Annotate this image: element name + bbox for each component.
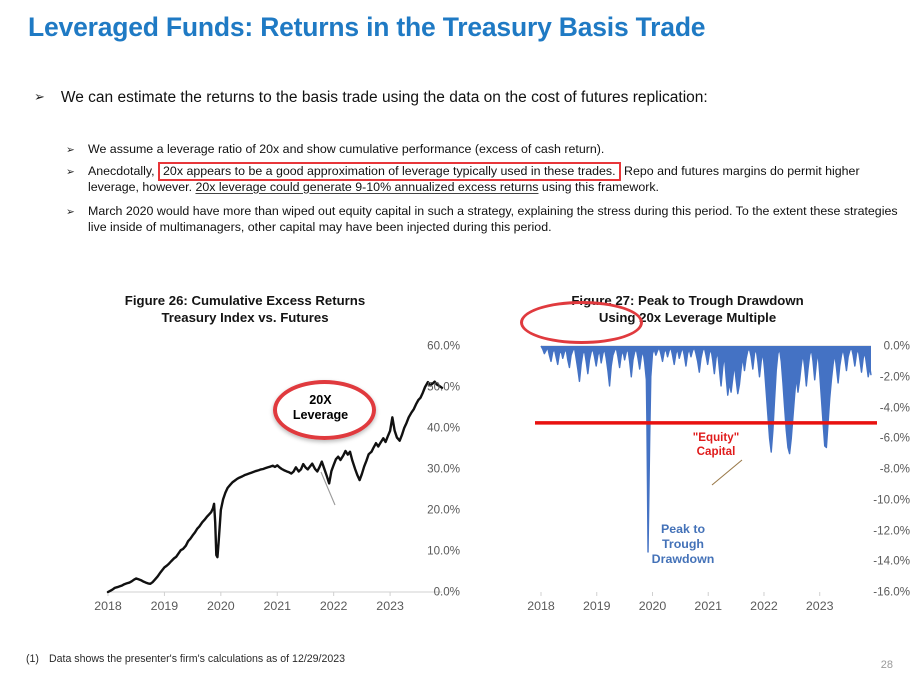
text-run: Anecdotally, (88, 164, 158, 178)
x-axis-tick-label: 2020 (207, 599, 235, 613)
x-axis-tick-label: 2022 (750, 599, 778, 613)
footnote-number: (1) (26, 653, 39, 665)
x-axis-tick-label: 2023 (376, 599, 404, 613)
bullet-arrow-icon: ➢ (66, 142, 76, 158)
y-axis-tick-label: 30.0% (388, 463, 460, 476)
underlined-phrase: 20x leverage could generate 9-10% annual… (195, 180, 538, 194)
figure-27-title: Figure 27: Peak to Trough Drawdown Using… (465, 292, 910, 326)
leverage-callout-label: 20X Leverage (273, 393, 368, 423)
peak-to-trough-line1: Peak to (625, 522, 741, 537)
x-axis-tick-label: 2023 (806, 599, 834, 613)
figure-27: Figure 27: Peak to Trough Drawdown Using… (465, 292, 910, 617)
peak-to-trough-line2: Trough (625, 537, 741, 552)
text-run: March 2020 would have more than wiped ou… (88, 204, 898, 234)
figure-27-title-line2: Using 20x Leverage Multiple (465, 309, 910, 326)
bullet-level1: ➢ We can estimate the returns to the bas… (34, 88, 894, 107)
bullet-level2-item: ➢ March 2020 would have more than wiped … (66, 204, 906, 235)
y-axis-tick-label: 40.0% (388, 422, 460, 435)
peak-to-trough-line3: Drawdown (625, 552, 741, 567)
highlighted-phrase: 20x appears to be a good approximation o… (158, 162, 621, 181)
y-axis-tick-label: 0.0% (840, 340, 910, 353)
leverage-callout-line1: 20X (273, 393, 368, 408)
x-axis-tick-label: 2019 (151, 599, 179, 613)
x-axis-tick-label: 2020 (639, 599, 667, 613)
y-axis-tick-label: -8.0% (840, 463, 910, 476)
y-axis-tick-label: -10.0% (840, 493, 910, 506)
figure-26-title: Figure 26: Cumulative Excess Returns Tre… (30, 292, 460, 326)
leverage-callout-line2: Leverage (273, 408, 368, 423)
footnote-text: Data shows the presenter's firm's calcul… (49, 653, 345, 665)
x-axis-tick-label: 2022 (320, 599, 348, 613)
equity-capital-line2: Capital (671, 445, 761, 459)
bullet-arrow-icon: ➢ (34, 88, 45, 106)
bullet-arrow-icon: ➢ (66, 164, 76, 180)
figure-26: Figure 26: Cumulative Excess Returns Tre… (30, 292, 460, 617)
y-axis-tick-label: 50.0% (388, 381, 460, 394)
page-number: 28 (881, 659, 893, 671)
x-axis-tick-label: 2018 (527, 599, 555, 613)
bullet-level2-text: We assume a leverage ratio of 20x and sh… (88, 142, 604, 158)
x-axis-tick-label: 2019 (583, 599, 611, 613)
bullet-arrow-icon: ➢ (66, 204, 76, 220)
footnote: (1)Data shows the presenter's firm's cal… (26, 653, 345, 665)
figure-27-title-line1: Figure 27: Peak to Trough Drawdown (465, 292, 910, 309)
page-title: Leveraged Funds: Returns in the Treasury… (28, 12, 705, 43)
bullet-level2-text: Anecdotally, 20x appears to be a good ap… (88, 164, 906, 195)
text-run: using this framework. (538, 180, 659, 194)
x-axis-tick-label: 2021 (263, 599, 291, 613)
y-axis-tick-label: -2.0% (840, 370, 910, 383)
figure-26-title-line1: Figure 26: Cumulative Excess Returns (30, 292, 460, 309)
x-axis-tick-label: 2018 (94, 599, 122, 613)
text-run: We assume a leverage ratio of 20x and sh… (88, 142, 604, 156)
y-axis-tick-label: -12.0% (840, 524, 910, 537)
bullet-level2-item: ➢ Anecdotally, 20x appears to be a good … (66, 164, 906, 195)
bullet-level1-text: We can estimate the returns to the basis… (61, 88, 708, 107)
y-axis-tick-label: 20.0% (388, 504, 460, 517)
y-axis-tick-label: -14.0% (840, 555, 910, 568)
equity-capital-line1: "Equity" (671, 431, 761, 445)
y-axis-tick-label: 60.0% (388, 340, 460, 353)
bullet-level2-list: ➢ We assume a leverage ratio of 20x and … (66, 142, 906, 241)
figure-27-plot: 0.0%-2.0%-4.0%-6.0%-8.0%-10.0%-12.0%-14.… (465, 334, 910, 614)
peak-to-trough-label: Peak to Trough Drawdown (625, 522, 741, 567)
y-axis-tick-label: -6.0% (840, 432, 910, 445)
slide-canvas: Leveraged Funds: Returns in the Treasury… (0, 0, 921, 686)
y-axis-tick-label: 10.0% (388, 545, 460, 558)
bullet-level2-item: ➢ We assume a leverage ratio of 20x and … (66, 142, 906, 158)
bullet-level2-text: March 2020 would have more than wiped ou… (88, 204, 906, 235)
equity-capital-label: "Equity" Capital (671, 431, 761, 459)
figure-26-title-line2: Treasury Index vs. Futures (30, 309, 460, 326)
y-axis-tick-label: 0.0% (388, 586, 460, 599)
figure-26-plot: 0.0%10.0%20.0%30.0%40.0%50.0%60.0% 20182… (30, 334, 460, 614)
x-axis-tick-label: 2021 (694, 599, 722, 613)
y-axis-tick-label: -4.0% (840, 401, 910, 414)
y-axis-tick-label: -16.0% (840, 586, 910, 599)
